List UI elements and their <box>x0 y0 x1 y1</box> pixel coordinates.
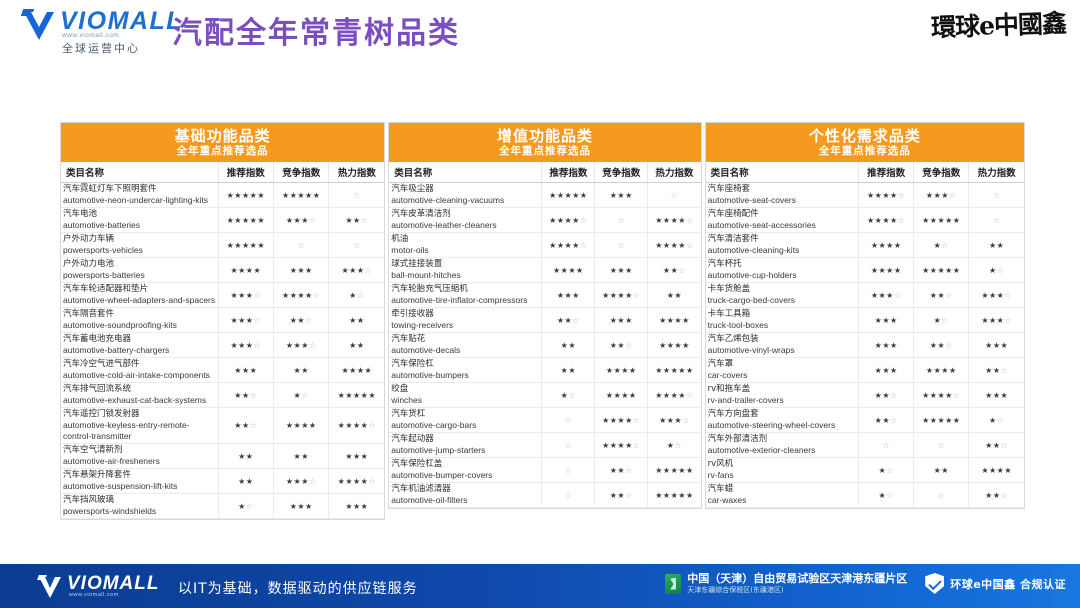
category-name-cell: 汽车吸尘器automotive-cleaning-vacuums <box>389 183 542 208</box>
category-name-cell: 汽车起动器automotive-jump-starters <box>389 433 542 458</box>
recommend-rating: ★★☆ <box>218 383 273 408</box>
category-name-cn: 汽车保险杠 <box>391 359 539 370</box>
heat-rating: ★☆ <box>969 258 1024 283</box>
category-name-cell: 卡车工具箱truck-tool-boxes <box>706 308 859 333</box>
table-row: 机油motor-oils★★★★☆☆★★★★☆ <box>389 233 700 258</box>
category-name-cn: 汽车吸尘器 <box>391 184 539 195</box>
category-name-en: automotive-seat-accessories <box>708 220 856 231</box>
category-name-cell: 汽车清洁套件automotive-cleaning-kits <box>706 233 859 258</box>
category-name-en: powersports-batteries <box>63 270 216 281</box>
category-name-en: ball-mount-hitches <box>391 270 539 281</box>
table-row: 户外动力车辆powersports-vehicles★★★★★☆☆ <box>61 233 384 258</box>
category-name-en: automotive-bumpers <box>391 370 539 381</box>
category-name-en: automotive-air-fresheners <box>63 456 216 467</box>
category-name-cn: 卡车工具箱 <box>708 309 856 320</box>
table-title: 增值功能品类 <box>389 127 700 145</box>
heat-rating: ★★★★☆ <box>648 208 701 233</box>
category-name-cn: 汽车座椅配件 <box>708 209 856 220</box>
recommend-rating: ★★★ <box>542 283 595 308</box>
competition-rating: ★★★ <box>274 494 329 519</box>
recommend-rating: ★★★★☆ <box>542 208 595 233</box>
competition-rating: ★★★★☆ <box>274 283 329 308</box>
competition-rating: ★★ <box>914 458 969 483</box>
category-name-cn: 球式挂接装置 <box>391 259 539 270</box>
competition-rating: ★★★★ <box>274 408 329 444</box>
competition-rating: ★★★ <box>595 258 648 283</box>
table-row: 汽车乙烯包装automotive-vinyl-wraps★★★★★☆★★★ <box>706 333 1024 358</box>
col-header-competition: 竞争指数 <box>595 162 648 183</box>
category-name-en: automotive-soundproofing-kits <box>63 320 216 331</box>
competition-rating: ★★★☆ <box>274 208 329 233</box>
competition-rating: ★★★★☆ <box>595 433 648 458</box>
category-name-en: automotive-cargo-bars <box>391 420 539 431</box>
category-name-cell: 汽车贴花automotive-decals <box>389 333 542 358</box>
category-name-cell: 汽车座椅配件automotive-seat-accessories <box>706 208 859 233</box>
category-name-cn: 汽车保险杠盖 <box>391 459 539 470</box>
table-header: 个性化需求品类全年重点推荐选品 <box>706 123 1024 162</box>
competition-rating: ★★★ <box>595 308 648 333</box>
table-row: 汽车冷空气进气部件automotive-cold-air-intake-comp… <box>61 358 384 383</box>
heat-rating: ★★★★☆ <box>329 408 384 444</box>
category-name-cn: 汽车贴花 <box>391 334 539 345</box>
category-name-cell: 汽车座椅套automotive-seat-covers <box>706 183 859 208</box>
footer-tagline: 以IT为基础，数据驱动的供应链服务 <box>178 578 418 598</box>
competition-rating: ☆ <box>914 483 969 508</box>
footer-badges: 中国（天津）自由贸易试验区天津港东疆片区 天津东疆综合保税区(东疆港区) 环球e… <box>665 572 1066 595</box>
category-name-en: rv-and-trailer-covers <box>708 395 856 406</box>
ftz-subtitle: 天津东疆综合保税区(东疆港区) <box>687 585 907 595</box>
table-row: 汽车排气回流系统automotive-exhaust-cat-back-syst… <box>61 383 384 408</box>
recommend-rating: ☆ <box>542 433 595 458</box>
category-name-cn: 牵引接收器 <box>391 309 539 320</box>
table-row: 汽车座椅套automotive-seat-covers★★★★☆★★★☆☆ <box>706 183 1024 208</box>
category-name-cell: 汽车遥控门锁发射器automotive-keyless-entry-remote… <box>61 408 218 444</box>
heat-rating: ★☆ <box>648 433 701 458</box>
competition-rating: ☆ <box>595 208 648 233</box>
table-row: 汽车挡风玻璃powersports-windshields★☆★★★★★★ <box>61 494 384 519</box>
category-name-cn: 汽车起动器 <box>391 434 539 445</box>
table-row: 汽车贴花automotive-decals★★★★☆★★★★ <box>389 333 700 358</box>
competition-rating: ★★☆ <box>595 458 648 483</box>
category-name-en: automotive-tire-inflator-compressors <box>391 295 539 306</box>
competition-rating: ★★☆ <box>914 283 969 308</box>
recommend-rating: ★★★ <box>218 358 273 383</box>
category-name-cn: 汽车遥控门锁发射器 <box>63 409 216 420</box>
table-row: 卡车货舱盖truck-cargo-bed-covers★★★☆★★☆★★★☆ <box>706 283 1024 308</box>
category-name-cn: 汽车挡风玻璃 <box>63 495 216 506</box>
category-name-en: truck-tool-boxes <box>708 320 856 331</box>
heat-rating: ★★ <box>329 333 384 358</box>
heat-rating: ★★★ <box>969 333 1024 358</box>
competition-rating: ☆ <box>274 233 329 258</box>
category-name-cell: 汽车蜡car-waxes <box>706 483 859 508</box>
recommend-rating: ★★ <box>542 333 595 358</box>
category-name-en: automotive-jump-starters <box>391 445 539 456</box>
table-row: 汽车杯托automotive-cup-holders★★★★★★★★★★☆ <box>706 258 1024 283</box>
category-name-en: automotive-battery-chargers <box>63 345 216 356</box>
heat-rating: ★★☆ <box>329 208 384 233</box>
footer-viomall-logo: VIOMALL www.viomall.com <box>38 574 160 598</box>
category-name-en: automotive-cleaning-vacuums <box>391 195 539 206</box>
category-name-cell: rv和拖车盖rv-and-trailer-covers <box>706 383 859 408</box>
competition-rating: ★★★★★ <box>914 258 969 283</box>
table-subtitle: 全年重点推荐选品 <box>389 145 700 158</box>
recommend-rating: ★★☆ <box>218 408 273 444</box>
compliance-text: 环球e中国鑫 合规认证 <box>950 576 1066 592</box>
category-table-3: 个性化需求品类全年重点推荐选品类目名称推荐指数竞争指数热力指数汽车座椅套auto… <box>705 122 1025 509</box>
category-name-cell: 汽车杯托automotive-cup-holders <box>706 258 859 283</box>
category-name-cn: 汽车冷空气进气部件 <box>63 359 216 370</box>
category-name-cn: rv和拖车盖 <box>708 384 856 395</box>
category-name-cell: 汽车货杠automotive-cargo-bars <box>389 408 542 433</box>
category-name-en: towing-receivers <box>391 320 539 331</box>
category-name-cell: 汽车外部清洁剂automotive-exterior-cleaners <box>706 433 859 458</box>
table-row: 卡车工具箱truck-tool-boxes★★★★☆★★★☆ <box>706 308 1024 333</box>
category-name-cell: 汽车挡风玻璃powersports-windshields <box>61 494 218 519</box>
competition-rating: ★★★★ <box>595 383 648 408</box>
heat-rating: ★☆ <box>329 283 384 308</box>
category-name-cn: 汽车座椅套 <box>708 184 856 195</box>
heat-rating: ★★☆ <box>969 358 1024 383</box>
category-name-en: automotive-decals <box>391 345 539 356</box>
recommend-rating: ★★★★ <box>859 233 914 258</box>
recommend-rating: ★★★ <box>859 308 914 333</box>
heat-rating: ★★★★★ <box>648 483 701 508</box>
category-name-cell: 汽车罩car-covers <box>706 358 859 383</box>
category-name-cell: 汽车车轮适配器和垫片automotive-wheel-adapters-and-… <box>61 283 218 308</box>
brand-name: VIOMALL <box>60 8 183 34</box>
recommend-rating: ★★ <box>218 444 273 469</box>
col-header-competition: 竞争指数 <box>274 162 329 183</box>
table-row: 汽车外部清洁剂automotive-exterior-cleaners☆☆★★☆ <box>706 433 1024 458</box>
category-name-en: car-covers <box>708 370 856 381</box>
recommend-rating: ★★★★ <box>218 258 273 283</box>
table-row: 汽车空气清新剂automotive-air-fresheners★★★★★★★ <box>61 444 384 469</box>
heat-rating: ★★★★★ <box>648 458 701 483</box>
table-row: 汽车方向盘套automotive-steering-wheel-covers★★… <box>706 408 1024 433</box>
heat-rating: ★★★★☆ <box>329 469 384 494</box>
recommend-rating: ★★★☆ <box>218 283 273 308</box>
table-grid: 类目名称推荐指数竞争指数热力指数汽车霓虹灯车下照明套件automotive-ne… <box>61 162 384 519</box>
viomall-logo: VIOMALL www.viomall.com 全球运营中心 <box>22 8 183 56</box>
category-name-cell: 汽车电池automotive-batteries <box>61 208 218 233</box>
category-name-cn: 机油 <box>391 234 539 245</box>
competition-rating: ★☆ <box>914 233 969 258</box>
recommend-rating: ★★★★ <box>542 258 595 283</box>
category-name-en: truck-cargo-bed-covers <box>708 295 856 306</box>
heat-rating: ★★★★ <box>969 458 1024 483</box>
table-row: 汽车罩car-covers★★★★★★★★★☆ <box>706 358 1024 383</box>
recommend-rating: ★★★☆ <box>218 308 273 333</box>
page-header: VIOMALL www.viomall.com 全球运营中心 汽配全年常青树品类… <box>0 0 1080 62</box>
category-name-cn: 汽车罩 <box>708 359 856 370</box>
competition-rating: ★★ <box>274 358 329 383</box>
table-row: 户外动力电池powersports-batteries★★★★★★★★★★☆ <box>61 258 384 283</box>
category-name-cn: 汽车空气清新剂 <box>63 445 216 456</box>
heat-rating: ☆ <box>969 208 1024 233</box>
col-header-recommend: 推荐指数 <box>542 162 595 183</box>
category-name-cell: rv风机rv-fans <box>706 458 859 483</box>
competition-rating: ★★☆ <box>595 333 648 358</box>
heat-rating: ★★★ <box>329 494 384 519</box>
col-header-recommend: 推荐指数 <box>859 162 914 183</box>
table-row: 汽车车轮适配器和垫片automotive-wheel-adapters-and-… <box>61 283 384 308</box>
heat-rating: ☆ <box>329 183 384 208</box>
col-header-name: 类目名称 <box>61 162 218 183</box>
table-title: 基础功能品类 <box>61 127 384 145</box>
category-name-en: automotive-leather-cleaners <box>391 220 539 231</box>
table-row: 汽车遥控门锁发射器automotive-keyless-entry-remote… <box>61 408 384 444</box>
category-name-cn: 汽车蓄电池充电器 <box>63 334 216 345</box>
category-name-cell: 户外动力电池powersports-batteries <box>61 258 218 283</box>
table-subtitle: 全年重点推荐选品 <box>706 145 1024 158</box>
category-name-en: powersports-windshields <box>63 506 216 517</box>
category-name-cn: 户外动力电池 <box>63 259 216 270</box>
heat-rating: ★☆ <box>969 408 1024 433</box>
heat-rating: ★★ <box>329 308 384 333</box>
table-row: 汽车保险杠automotive-bumpers★★★★★★★★★★★ <box>389 358 700 383</box>
free-trade-zone-badge: 中国（天津）自由贸易试验区天津港东疆片区 天津东疆综合保税区(东疆港区) <box>665 572 907 595</box>
recommend-rating: ★★★☆ <box>218 333 273 358</box>
category-name-cell: 汽车霓虹灯车下照明套件automotive-neon-undercar-ligh… <box>61 183 218 208</box>
recommend-rating: ★★★★☆ <box>859 183 914 208</box>
category-name-cn: 汽车货杠 <box>391 409 539 420</box>
heat-rating: ★★★☆ <box>969 308 1024 333</box>
recommend-rating: ★☆ <box>859 483 914 508</box>
recommend-rating: ★★★★★ <box>218 208 273 233</box>
category-name-cell: 汽车方向盘套automotive-steering-wheel-covers <box>706 408 859 433</box>
recommend-rating: ★★★☆ <box>859 283 914 308</box>
table-row: 汽车起动器automotive-jump-starters☆★★★★☆★☆ <box>389 433 700 458</box>
heat-rating: ★★★★ <box>648 308 701 333</box>
ftz-title: 中国（天津）自由贸易试验区天津港东疆片区 <box>687 572 907 585</box>
category-name-cn: 卡车货舱盖 <box>708 284 856 295</box>
recommend-rating: ★☆ <box>218 494 273 519</box>
category-name-en: automotive-oil-filters <box>391 495 539 506</box>
category-name-cn: 汽车排气回流系统 <box>63 384 216 395</box>
footer-brand-name: VIOMALL <box>67 574 160 594</box>
competition-rating: ★★★★☆ <box>595 283 648 308</box>
recommend-rating: ★★★ <box>859 333 914 358</box>
table-row: 汽车隔音套件automotive-soundproofing-kits★★★☆★… <box>61 308 384 333</box>
recommend-rating: ★★★★☆ <box>859 208 914 233</box>
competition-rating: ★☆ <box>274 383 329 408</box>
category-name-cell: 汽车乙烯包装automotive-vinyl-wraps <box>706 333 859 358</box>
table-row: rv和拖车盖rv-and-trailer-covers★★☆★★★★☆★★★ <box>706 383 1024 408</box>
col-header-recommend: 推荐指数 <box>218 162 273 183</box>
heat-rating: ★★★★★ <box>648 358 701 383</box>
table-row: 汽车货杠automotive-cargo-bars☆★★★★☆★★★☆ <box>389 408 700 433</box>
category-name-cn: 汽车清洁套件 <box>708 234 856 245</box>
heat-rating: ★★ <box>969 233 1024 258</box>
table-row: 汽车吸尘器automotive-cleaning-vacuums★★★★★★★★… <box>389 183 700 208</box>
competition-rating: ★★☆ <box>595 483 648 508</box>
category-name-en: rv-fans <box>708 470 856 481</box>
category-name-cell: 机油motor-oils <box>389 233 542 258</box>
table-row: 汽车机油滤清器automotive-oil-filters☆★★☆★★★★★ <box>389 483 700 508</box>
recommend-rating: ★★★★☆ <box>542 233 595 258</box>
compliance-badge: 环球e中国鑫 合规认证 <box>925 573 1066 594</box>
category-name-cell: 卡车货舱盖truck-cargo-bed-covers <box>706 283 859 308</box>
competition-rating: ★★★★ <box>595 358 648 383</box>
category-name-en: automotive-cold-air-intake-components <box>63 370 216 381</box>
category-name-en: automotive-steering-wheel-covers <box>708 420 856 431</box>
col-header-heat: 热力指数 <box>969 162 1024 183</box>
recommend-rating: ☆ <box>542 458 595 483</box>
category-name-cell: 牵引接收器towing-receivers <box>389 308 542 333</box>
heat-rating: ☆ <box>648 183 701 208</box>
category-name-cell: 汽车皮革清洁剂automotive-leather-cleaners <box>389 208 542 233</box>
recommend-rating: ★★★★ <box>859 258 914 283</box>
category-name-cn: 户外动力车辆 <box>63 234 216 245</box>
category-name-cn: 汽车杯托 <box>708 259 856 270</box>
heat-rating: ★★★★ <box>329 358 384 383</box>
recommend-rating: ★★ <box>218 469 273 494</box>
heat-rating: ★★★☆ <box>648 408 701 433</box>
shield-check-icon <box>925 573 944 594</box>
category-name-cn: 汽车电池 <box>63 209 216 220</box>
category-name-en: automotive-exterior-cleaners <box>708 445 856 456</box>
heat-rating: ★★★★☆ <box>648 383 701 408</box>
heat-rating: ★★☆ <box>648 258 701 283</box>
table-subtitle: 全年重点推荐选品 <box>61 145 384 158</box>
competition-rating: ★★☆ <box>914 333 969 358</box>
table-row: 汽车皮革清洁剂automotive-leather-cleaners★★★★☆☆… <box>389 208 700 233</box>
recommend-rating: ★★★★★ <box>218 233 273 258</box>
category-name-cn: 汽车悬架升降套件 <box>63 470 216 481</box>
category-name-en: automotive-vinyl-wraps <box>708 345 856 356</box>
competition-rating: ★★★ <box>595 183 648 208</box>
recommend-rating: ★☆ <box>542 383 595 408</box>
category-name-cell: 汽车悬架升降套件automotive-suspension-lift-kits <box>61 469 218 494</box>
category-name-cell: 汽车空气清新剂automotive-air-fresheners <box>61 444 218 469</box>
category-name-cn: 汽车乙烯包装 <box>708 334 856 345</box>
recommend-rating: ☆ <box>859 433 914 458</box>
recommend-rating: ☆ <box>542 408 595 433</box>
category-name-cn: 汽车隔音套件 <box>63 309 216 320</box>
table-row: 汽车悬架升降套件automotive-suspension-lift-kits★… <box>61 469 384 494</box>
competition-rating: ★★★★☆ <box>914 383 969 408</box>
competition-rating: ★★★☆ <box>274 333 329 358</box>
competition-rating: ★★★★★ <box>914 208 969 233</box>
table-row: 球式挂接装置ball-mount-hitches★★★★★★★★★☆ <box>389 258 700 283</box>
competition-rating: ★★★☆ <box>274 469 329 494</box>
table-row: 汽车轮胎充气压缩机automotive-tire-inflator-compre… <box>389 283 700 308</box>
table-row: 汽车蜡car-waxes★☆☆★★☆ <box>706 483 1024 508</box>
category-name-en: automotive-batteries <box>63 220 216 231</box>
competition-rating: ★★☆ <box>274 308 329 333</box>
table-grid: 类目名称推荐指数竞争指数热力指数汽车吸尘器automotive-cleaning… <box>389 162 700 508</box>
category-name-en: car-waxes <box>708 495 856 506</box>
category-name-en: automotive-bumper-covers <box>391 470 539 481</box>
heat-rating: ★★★ <box>329 444 384 469</box>
category-name-cn: rv风机 <box>708 459 856 470</box>
recommend-rating: ★☆ <box>859 458 914 483</box>
category-name-cn: 绞盘 <box>391 384 539 395</box>
competition-rating: ★★★★☆ <box>595 408 648 433</box>
category-name-en: automotive-keyless-entry-remote-control-… <box>63 420 216 442</box>
category-name-cell: 户外动力车辆powersports-vehicles <box>61 233 218 258</box>
heat-rating: ★★★★ <box>648 333 701 358</box>
category-name-en: motor-oils <box>391 245 539 256</box>
col-header-name: 类目名称 <box>389 162 542 183</box>
heat-rating: ★★★ <box>969 383 1024 408</box>
category-name-cell: 汽车冷空气进气部件automotive-cold-air-intake-comp… <box>61 358 218 383</box>
page-title: 汽配全年常青树品类 <box>172 8 460 52</box>
competition-rating: ★☆ <box>914 308 969 333</box>
table-row: 汽车霓虹灯车下照明套件automotive-neon-undercar-ligh… <box>61 183 384 208</box>
page-footer: VIOMALL www.viomall.com 以IT为基础，数据驱动的供应链服… <box>0 564 1080 608</box>
category-name-cell: 汽车排气回流系统automotive-exhaust-cat-back-syst… <box>61 383 218 408</box>
competition-rating: ★★★★★ <box>914 408 969 433</box>
category-name-cn: 汽车外部清洁剂 <box>708 434 856 445</box>
col-header-competition: 竞争指数 <box>914 162 969 183</box>
table-row: rv风机rv-fans★☆★★★★★★ <box>706 458 1024 483</box>
category-name-en: automotive-suspension-lift-kits <box>63 481 216 492</box>
heat-rating: ★★★☆ <box>969 283 1024 308</box>
heat-rating: ★★★☆ <box>329 258 384 283</box>
col-header-name: 类目名称 <box>706 162 859 183</box>
category-table-2: 增值功能品类全年重点推荐选品类目名称推荐指数竞争指数热力指数汽车吸尘器autom… <box>388 122 701 509</box>
competition-rating: ★★★ <box>274 258 329 283</box>
col-header-heat: 热力指数 <box>329 162 384 183</box>
free-trade-zone-icon <box>665 574 681 594</box>
corporate-calligraphy-logo: 環球e中國鑫 <box>931 4 1067 45</box>
table-title: 个性化需求品类 <box>706 127 1024 145</box>
category-name-cn: 汽车皮革清洁剂 <box>391 209 539 220</box>
table-grid: 类目名称推荐指数竞争指数热力指数汽车座椅套automotive-seat-cov… <box>706 162 1024 508</box>
heat-rating: ☆ <box>329 233 384 258</box>
category-name-en: automotive-seat-covers <box>708 195 856 206</box>
heat-rating: ★★★★☆ <box>648 233 701 258</box>
table-row: 绞盘winches★☆★★★★★★★★☆ <box>389 383 700 408</box>
category-name-cn: 汽车轮胎充气压缩机 <box>391 284 539 295</box>
category-name-cell: 汽车保险杠automotive-bumpers <box>389 358 542 383</box>
category-name-cell: 绞盘winches <box>389 383 542 408</box>
competition-rating: ☆ <box>914 433 969 458</box>
competition-rating: ★★★★★ <box>274 183 329 208</box>
category-name-cell: 汽车轮胎充气压缩机automotive-tire-inflator-compre… <box>389 283 542 308</box>
col-header-heat: 热力指数 <box>648 162 701 183</box>
table-row: 汽车电池automotive-batteries★★★★★★★★☆★★☆ <box>61 208 384 233</box>
recommend-rating: ★★☆ <box>859 408 914 433</box>
table-row: 汽车蓄电池充电器automotive-battery-chargers★★★☆★… <box>61 333 384 358</box>
heat-rating: ★★★★★ <box>329 383 384 408</box>
recommend-rating: ★★★★★ <box>542 183 595 208</box>
category-name-en: automotive-cleaning-kits <box>708 245 856 256</box>
footer-checkmark-icon <box>38 574 64 598</box>
category-name-cn: 汽车方向盘套 <box>708 409 856 420</box>
recommend-rating: ★★☆ <box>542 308 595 333</box>
category-tables: 基础功能品类全年重点推荐选品类目名称推荐指数竞争指数热力指数汽车霓虹灯车下照明套… <box>60 122 1025 520</box>
category-name-en: automotive-wheel-adapters-and-spacers <box>63 295 216 306</box>
category-table-1: 基础功能品类全年重点推荐选品类目名称推荐指数竞争指数热力指数汽车霓虹灯车下照明套… <box>60 122 385 520</box>
category-name-cn: 汽车机油滤清器 <box>391 484 539 495</box>
recommend-rating: ★★☆ <box>859 383 914 408</box>
table-header: 增值功能品类全年重点推荐选品 <box>389 123 700 162</box>
brand-subtitle: 全球运营中心 <box>62 40 183 56</box>
recommend-rating: ☆ <box>542 483 595 508</box>
category-name-cn: 汽车车轮适配器和垫片 <box>63 284 216 295</box>
category-name-en: powersports-vehicles <box>63 245 216 256</box>
category-name-cn: 汽车蜡 <box>708 484 856 495</box>
competition-rating: ★★ <box>274 444 329 469</box>
heat-rating: ★★☆ <box>969 433 1024 458</box>
recommend-rating: ★★ <box>542 358 595 383</box>
heat-rating: ★★☆ <box>969 483 1024 508</box>
table-row: 牵引接收器towing-receivers★★☆★★★★★★★ <box>389 308 700 333</box>
recommend-rating: ★★★★★ <box>218 183 273 208</box>
